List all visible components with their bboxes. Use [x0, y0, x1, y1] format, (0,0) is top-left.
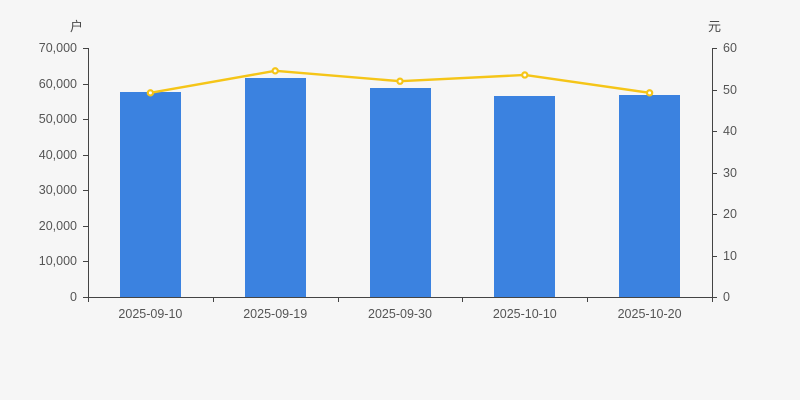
bar[interactable]	[245, 78, 306, 297]
x-axis-tick-mark	[213, 297, 214, 302]
right-axis-tick-label: 30	[723, 167, 737, 180]
right-axis-tick-mark	[712, 90, 717, 91]
right-axis-tick-mark	[712, 131, 717, 132]
left-axis-tick-label: 30,000	[0, 184, 77, 197]
right-axis-tick-label: 40	[723, 125, 737, 138]
x-axis-tick-mark	[338, 297, 339, 302]
left-axis-tick-mark	[83, 155, 88, 156]
chart-container: 户 元 010,00020,00030,00040,00050,00060,00…	[0, 0, 800, 400]
line-point-marker[interactable]	[522, 72, 527, 77]
left-axis-tick-label: 70,000	[0, 42, 77, 55]
left-axis-tick-mark	[83, 190, 88, 191]
x-axis-category-label: 2025-10-20	[587, 308, 712, 321]
right-axis-tick-label: 60	[723, 42, 737, 55]
right-axis-tick-label: 0	[723, 291, 730, 304]
x-axis-tick-mark	[712, 297, 713, 302]
left-axis-tick-label: 40,000	[0, 149, 77, 162]
right-axis-tick-mark	[712, 256, 717, 257]
right-axis-tick-label: 10	[723, 250, 737, 263]
line-point-marker[interactable]	[397, 79, 402, 84]
x-axis-category-label: 2025-09-10	[88, 308, 213, 321]
right-axis-tick-mark	[712, 214, 717, 215]
bar[interactable]	[494, 96, 555, 297]
left-axis-tick-label: 10,000	[0, 255, 77, 268]
left-axis-line	[88, 48, 89, 298]
left-axis-tick-label: 0	[0, 291, 77, 304]
right-axis-tick-label: 50	[723, 84, 737, 97]
x-axis-category-label: 2025-09-30	[338, 308, 463, 321]
x-axis-category-label: 2025-09-19	[213, 308, 338, 321]
left-axis-tick-label: 50,000	[0, 113, 77, 126]
left-axis-tick-mark	[83, 226, 88, 227]
left-axis-tick-mark	[83, 119, 88, 120]
left-axis-tick-mark	[83, 48, 88, 49]
right-axis-tick-mark	[712, 173, 717, 174]
bar[interactable]	[619, 95, 680, 297]
x-axis-tick-mark	[88, 297, 89, 302]
bar[interactable]	[120, 92, 181, 297]
x-axis-category-label: 2025-10-10	[462, 308, 587, 321]
right-axis-tick-mark	[712, 48, 717, 49]
bar[interactable]	[370, 88, 431, 297]
left-axis-tick-mark	[83, 84, 88, 85]
left-axis-tick-mark	[83, 261, 88, 262]
x-axis-tick-mark	[462, 297, 463, 302]
x-axis-tick-mark	[587, 297, 588, 302]
right-axis-tick-label: 20	[723, 208, 737, 221]
x-axis-line	[88, 297, 713, 298]
right-axis-unit-label: 元	[708, 16, 721, 35]
left-axis-unit-label: 户	[70, 16, 83, 35]
left-axis-tick-label: 60,000	[0, 78, 77, 91]
line-point-marker[interactable]	[273, 68, 278, 73]
left-axis-tick-label: 20,000	[0, 220, 77, 233]
